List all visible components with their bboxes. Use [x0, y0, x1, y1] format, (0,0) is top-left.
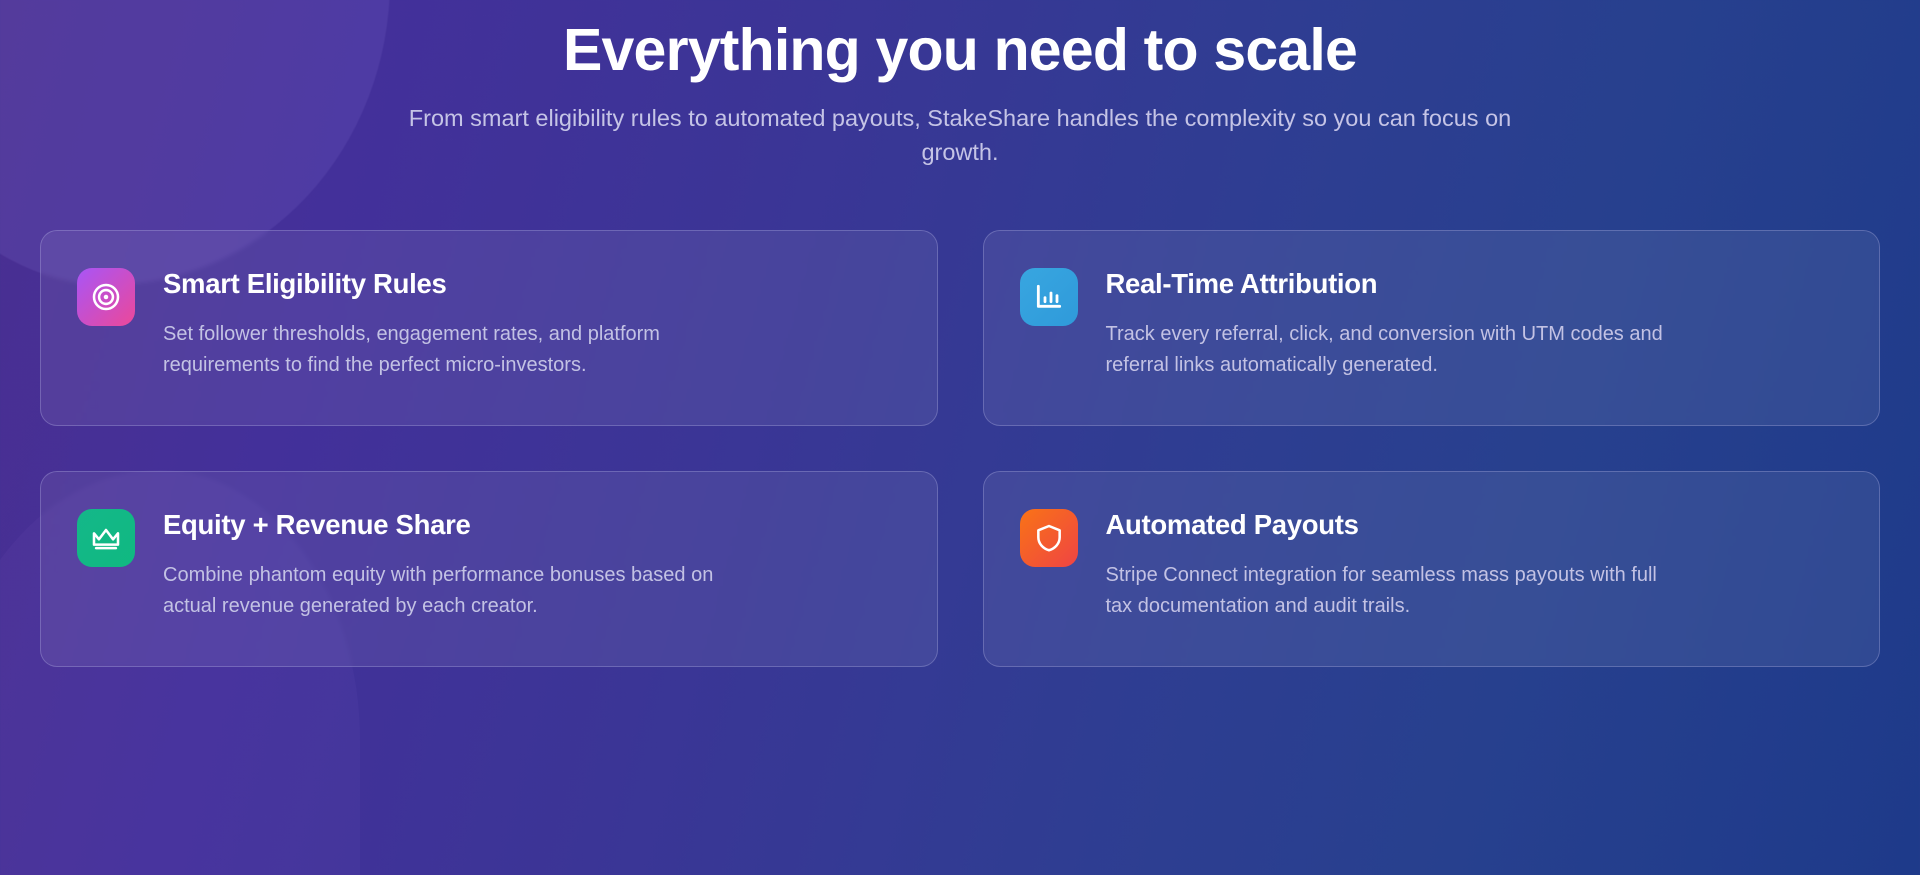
crown-icon — [77, 509, 135, 567]
feature-card-title: Equity + Revenue Share — [163, 508, 743, 541]
feature-card-smart-eligibility-rules[interactable]: Smart Eligibility Rules Set follower thr… — [40, 230, 938, 426]
feature-card-description: Track every referral, click, and convers… — [1106, 319, 1686, 381]
feature-card-body: Automated Payouts Stripe Connect integra… — [1106, 507, 1686, 622]
feature-card-body: Smart Eligibility Rules Set follower thr… — [163, 266, 743, 381]
feature-card-description: Stripe Connect integration for seamless … — [1106, 560, 1686, 622]
feature-card-title: Automated Payouts — [1106, 508, 1686, 541]
feature-card-equity-revenue-share[interactable]: Equity + Revenue Share Combine phantom e… — [40, 471, 938, 667]
feature-card-automated-payouts[interactable]: Automated Payouts Stripe Connect integra… — [983, 471, 1881, 667]
bar-chart-icon — [1020, 268, 1078, 326]
page-subtitle: From smart eligibility rules to automate… — [400, 102, 1520, 169]
feature-card-body: Equity + Revenue Share Combine phantom e… — [163, 507, 743, 622]
feature-card-body: Real-Time Attribution Track every referr… — [1106, 266, 1686, 381]
shield-icon — [1020, 509, 1078, 567]
feature-card-description: Set follower thresholds, engagement rate… — [163, 319, 743, 381]
feature-card-description: Combine phantom equity with performance … — [163, 560, 743, 622]
feature-card-real-time-attribution[interactable]: Real-Time Attribution Track every referr… — [983, 230, 1881, 426]
target-icon — [77, 268, 135, 326]
feature-card-title: Smart Eligibility Rules — [163, 267, 743, 300]
section-header: Everything you need to scale From smart … — [40, 0, 1880, 169]
feature-card-grid: Smart Eligibility Rules Set follower thr… — [40, 230, 1880, 667]
features-section: Everything you need to scale From smart … — [0, 0, 1920, 875]
feature-card-title: Real-Time Attribution — [1106, 267, 1686, 300]
page-title: Everything you need to scale — [40, 16, 1880, 84]
